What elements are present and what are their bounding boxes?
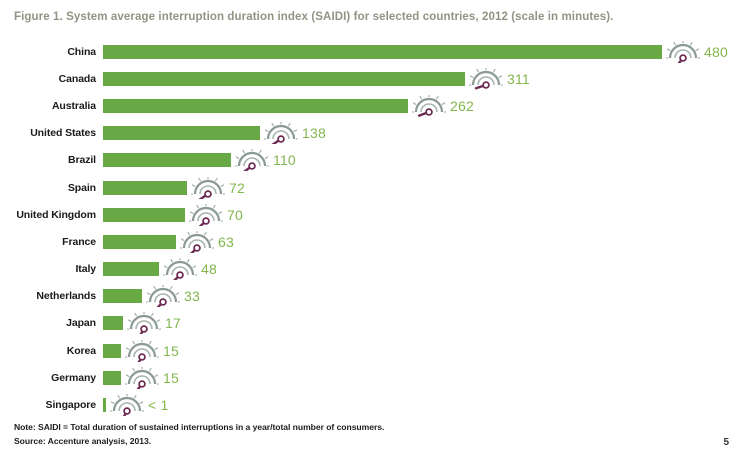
gauge-and-value: 63 (180, 231, 234, 253)
bar-track (103, 45, 662, 59)
bar-track (103, 316, 123, 330)
source-text: Source: Accenture analysis, 2013. (14, 434, 384, 448)
value-label: 33 (184, 288, 200, 304)
value-bar (103, 235, 176, 249)
chart-row: Spain72 (0, 174, 747, 201)
gauge-and-value: 262 (412, 95, 474, 117)
category-label: Australia (0, 100, 96, 112)
value-bar (103, 398, 106, 412)
gauge-and-value: 72 (191, 177, 245, 199)
figure-footnotes: Note: SAIDI = Total duration of sustaine… (14, 420, 384, 448)
gauge-and-value: 311 (469, 68, 530, 90)
chart-row: China480 (0, 38, 747, 65)
gauge-and-value: 110 (235, 149, 296, 171)
value-label: 72 (229, 180, 245, 196)
value-label: < 1 (148, 397, 168, 413)
gauge-icon (264, 122, 298, 144)
category-label: Singapore (0, 399, 96, 411)
value-bar (103, 208, 185, 222)
value-bar (103, 153, 231, 167)
chart-row: Netherlands33 (0, 283, 747, 310)
value-label: 480 (704, 44, 728, 60)
bar-track (103, 371, 121, 385)
gauge-icon (125, 367, 159, 389)
figure-container: Figure 1. System average interruption du… (0, 0, 747, 459)
gauge-and-value: 70 (189, 204, 243, 226)
gauge-icon (412, 95, 446, 117)
value-label: 110 (273, 152, 296, 168)
value-label: 63 (218, 234, 234, 250)
gauge-and-value: 15 (125, 340, 179, 362)
bar-track (103, 181, 187, 195)
gauge-and-value: 138 (264, 122, 326, 144)
bar-track (103, 235, 176, 249)
value-label: 70 (227, 207, 243, 223)
value-bar (103, 371, 121, 385)
chart-row: Korea15 (0, 337, 747, 364)
bar-track (103, 72, 465, 86)
value-bar (103, 45, 662, 59)
category-label: Japan (0, 317, 96, 329)
category-label: Canada (0, 73, 96, 85)
chart-row: Australia262 (0, 92, 747, 119)
bar-track (103, 99, 408, 113)
gauge-icon (666, 41, 700, 63)
gauge-icon (191, 177, 225, 199)
value-label: 17 (165, 315, 181, 331)
value-bar (103, 126, 260, 140)
category-label: Netherlands (0, 290, 96, 302)
page-number: 5 (723, 437, 729, 448)
chart-row: Singapore< 1 (0, 391, 747, 418)
value-bar (103, 262, 159, 276)
gauge-icon (235, 149, 269, 171)
category-label: France (0, 236, 96, 248)
gauge-icon (125, 340, 159, 362)
gauge-and-value: 480 (666, 41, 728, 63)
category-label: China (0, 46, 96, 58)
bar-track (103, 262, 159, 276)
value-bar (103, 181, 187, 195)
gauge-icon (163, 258, 197, 280)
bar-track (103, 153, 231, 167)
value-bar (103, 344, 121, 358)
value-label: 48 (201, 261, 217, 277)
gauge-icon (146, 285, 180, 307)
chart-row: Brazil110 (0, 147, 747, 174)
value-label: 311 (507, 71, 530, 87)
gauge-icon (110, 394, 144, 416)
gauge-icon (180, 231, 214, 253)
note-text: Note: SAIDI = Total duration of sustaine… (14, 420, 384, 434)
gauge-and-value: 15 (125, 367, 179, 389)
value-bar (103, 72, 465, 86)
value-label: 15 (163, 343, 179, 359)
gauge-and-value: < 1 (110, 394, 168, 416)
category-label: Brazil (0, 154, 96, 166)
category-label: Spain (0, 182, 96, 194)
gauge-icon (189, 204, 223, 226)
gauge-and-value: 33 (146, 285, 200, 307)
figure-title: Figure 1. System average interruption du… (14, 11, 613, 23)
category-label: United States (0, 127, 96, 139)
chart-row: United Kingdom70 (0, 201, 747, 228)
chart-row: Germany15 (0, 364, 747, 391)
bar-track (103, 126, 260, 140)
gauge-and-value: 17 (127, 312, 181, 334)
category-label: United Kingdom (0, 209, 96, 221)
value-label: 15 (163, 370, 179, 386)
chart-row: Italy48 (0, 256, 747, 283)
value-bar (103, 99, 408, 113)
gauge-and-value: 48 (163, 258, 217, 280)
gauge-icon (469, 68, 503, 90)
category-label: Italy (0, 263, 96, 275)
category-label: Germany (0, 372, 96, 384)
value-bar (103, 289, 142, 303)
chart-row: France63 (0, 228, 747, 255)
category-label: Korea (0, 345, 96, 357)
value-label: 262 (450, 98, 474, 114)
gauge-icon (127, 312, 161, 334)
value-bar (103, 316, 123, 330)
chart-row: Canada311 (0, 65, 747, 92)
bar-track (103, 289, 142, 303)
value-label: 138 (302, 125, 326, 141)
bar-chart: China480Canada311Australia262United Stat… (0, 38, 747, 419)
chart-row: Japan17 (0, 310, 747, 337)
chart-row: United States138 (0, 120, 747, 147)
bar-track (103, 398, 106, 412)
bar-track (103, 208, 185, 222)
bar-track (103, 344, 121, 358)
